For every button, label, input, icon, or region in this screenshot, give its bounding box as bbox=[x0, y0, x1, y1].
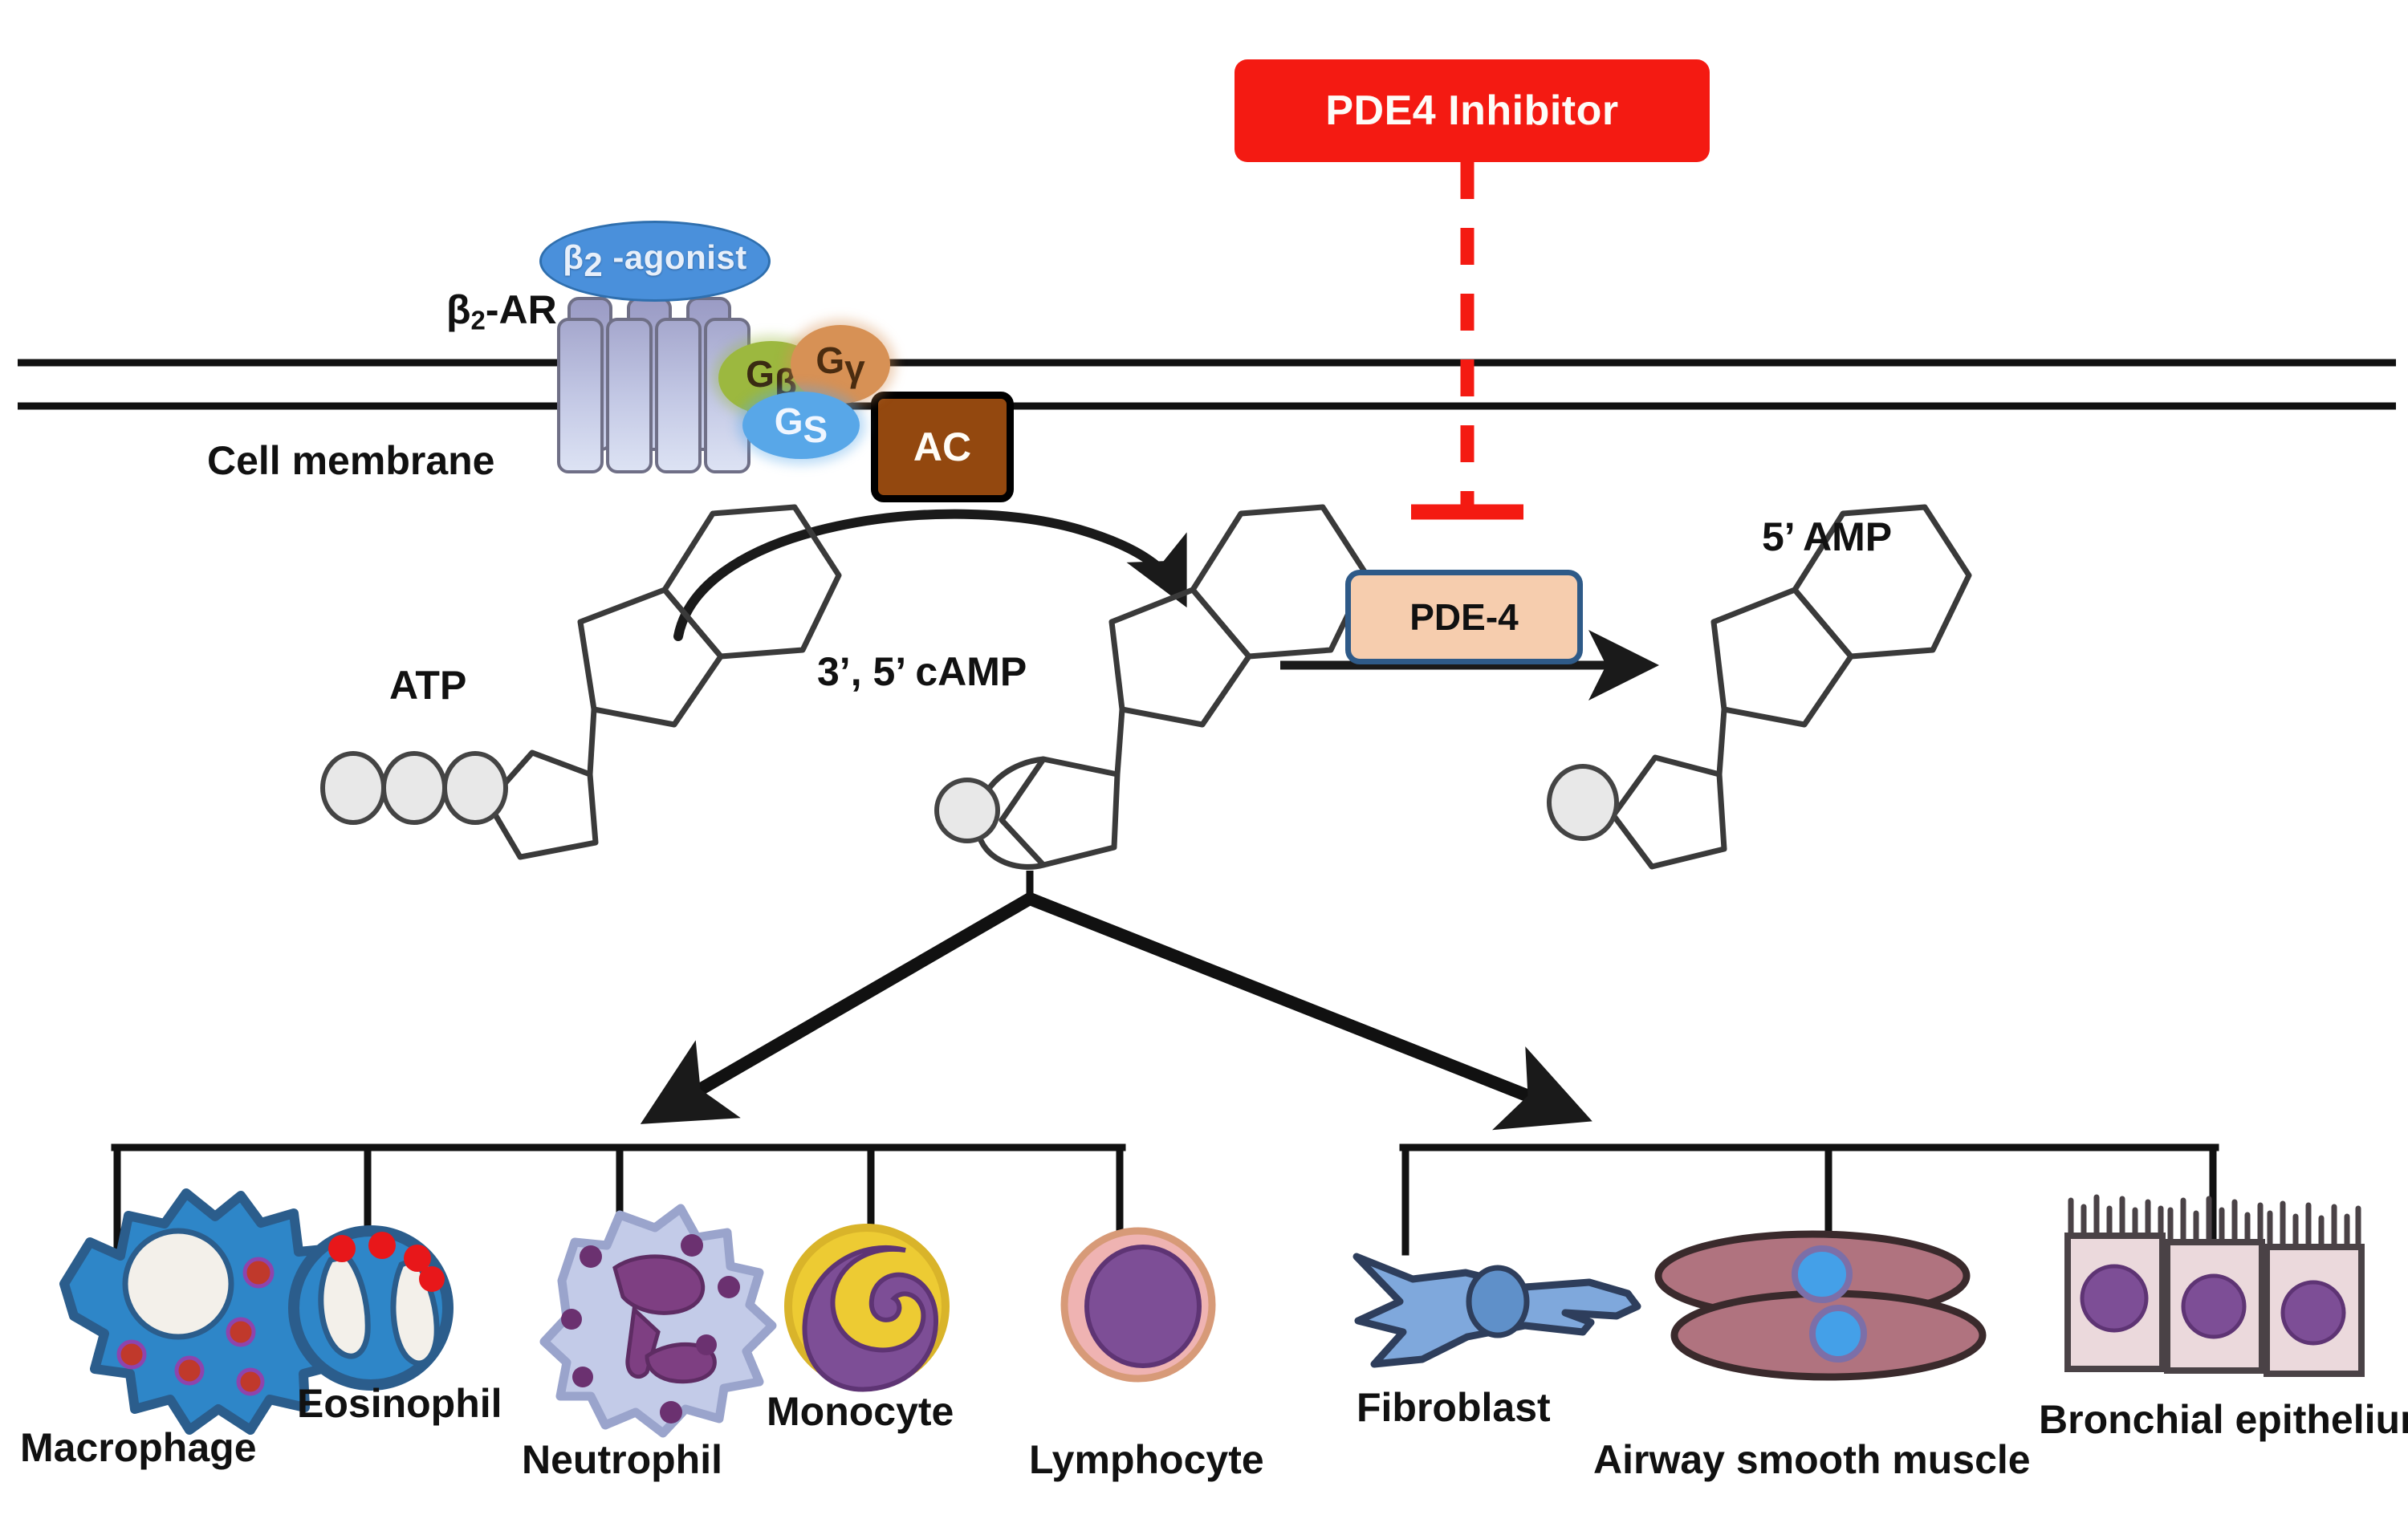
atp-label: ATP bbox=[389, 662, 466, 709]
lymphocyte-cell-icon bbox=[1064, 1231, 1212, 1379]
beta2-agonist-label: β2 -agonist bbox=[563, 238, 747, 284]
cell-membrane-lines bbox=[18, 363, 2396, 406]
beta2-agonist-node[interactable]: β2 -agonist bbox=[539, 221, 771, 302]
beta2-ar-label: β2-AR bbox=[446, 286, 557, 335]
ac-catalysis-arrow bbox=[678, 514, 1180, 636]
airway-smooth-muscle-cell-icon bbox=[1658, 1234, 1983, 1377]
amp-molecule bbox=[1549, 507, 1969, 867]
right-cell-bracket bbox=[1403, 1147, 2215, 1252]
g-gamma-label: Gγ bbox=[816, 339, 864, 390]
eosinophil-cell-icon bbox=[294, 1231, 448, 1385]
pde4-inhibitor-label: PDE4 Inhibitor bbox=[1325, 87, 1618, 135]
cell-membrane-label: Cell membrane bbox=[207, 437, 494, 484]
pde4-inhibitor-node[interactable]: PDE4 Inhibitor bbox=[1235, 59, 1710, 162]
left-cell-bracket bbox=[115, 1147, 1122, 1252]
diagram-lineart bbox=[0, 0, 2408, 1523]
g-s-subunit[interactable]: GS bbox=[742, 392, 860, 459]
adenylyl-cyclase-node[interactable]: AC bbox=[871, 392, 1014, 502]
cell-label-lymphocyte: Lymphocyte bbox=[1029, 1436, 1264, 1483]
pde4-node[interactable]: PDE-4 bbox=[1345, 570, 1583, 664]
cell-label-eosinophil: Eosinophil bbox=[297, 1380, 502, 1427]
fibroblast-cell-icon bbox=[1357, 1257, 1637, 1364]
cell-label-airway-smooth-muscle: Airway smooth muscle bbox=[1593, 1436, 2031, 1483]
camp-branch-arrows bbox=[658, 871, 1573, 1114]
cell-label-monocyte: Monocyte bbox=[767, 1388, 954, 1435]
g-s-label: GS bbox=[775, 400, 828, 451]
ac-label: AC bbox=[913, 424, 971, 470]
monocyte-cell-icon bbox=[788, 1228, 946, 1390]
inhibition-line bbox=[1411, 162, 1523, 512]
amp-label: 5’ AMP bbox=[1762, 514, 1892, 560]
neutrophil-cell-icon bbox=[544, 1208, 772, 1433]
cell-label-bronchial-epithelium: Bronchial epithelium bbox=[2039, 1396, 2408, 1443]
pde4-label: PDE-4 bbox=[1409, 595, 1518, 639]
cell-label-macrophage: Macrophage bbox=[20, 1424, 257, 1471]
cell-illustrations bbox=[0, 0, 2408, 1523]
cell-label-fibroblast: Fibroblast bbox=[1357, 1384, 1551, 1431]
cell-label-neutrophil: Neutrophil bbox=[522, 1436, 722, 1483]
camp-label: 3’, 5’ cAMP bbox=[817, 648, 1027, 695]
bronchial-epithelium-cell-icon bbox=[2068, 1197, 2361, 1374]
